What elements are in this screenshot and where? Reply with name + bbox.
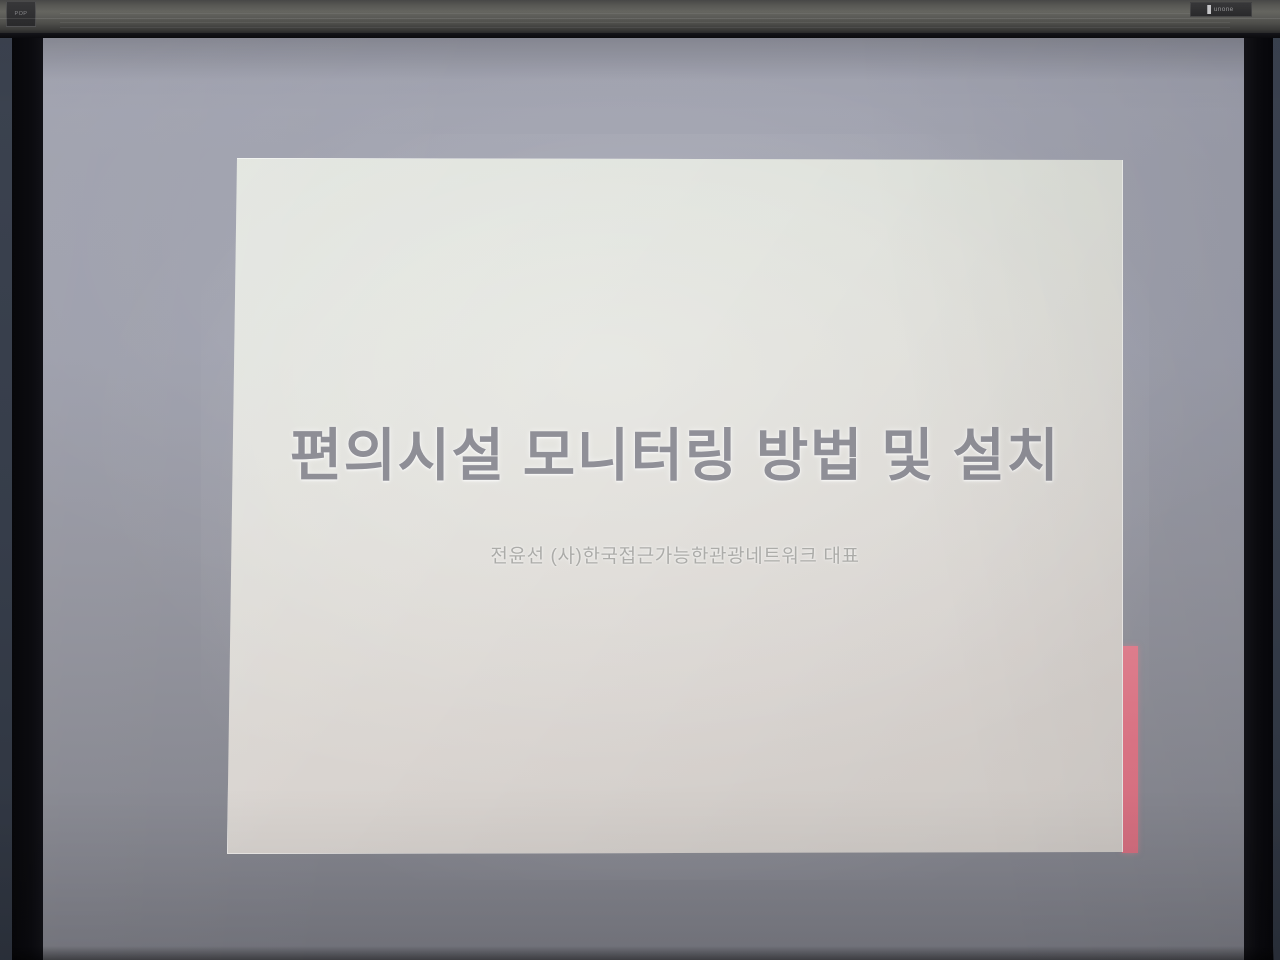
housing-left-plate-label: POP	[15, 11, 28, 17]
floor-shadow	[12, 946, 1274, 960]
screen-roller-housing: POP unone	[0, 0, 1280, 34]
housing-seam-line	[60, 27, 1230, 28]
screen-top-shadow	[43, 38, 1244, 80]
coral-accent-bar	[1122, 646, 1138, 853]
brand-flag-icon	[1207, 5, 1211, 14]
housing-brand-label: unone	[1214, 6, 1234, 12]
housing-seam-line	[60, 13, 1230, 14]
housing-brand-plate: unone	[1190, 2, 1252, 17]
projection-screen-surface: 편의시설 모니터링 방법 및 설치 전윤선 (사)한국접근가능한관광네트워크 대…	[43, 38, 1244, 960]
screen-bezel-right	[1243, 24, 1273, 960]
projector-screen-photo: 편의시설 모니터링 방법 및 설치 전윤선 (사)한국접근가능한관광네트워크 대…	[0, 0, 1280, 960]
housing-seam-line	[60, 22, 1230, 23]
projected-slide-region: 편의시설 모니터링 방법 및 설치 전윤선 (사)한국접근가능한관광네트워크 대…	[227, 158, 1123, 854]
screen-bezel-left	[12, 24, 44, 960]
slide-title: 편의시설 모니터링 방법 및 설치	[227, 410, 1123, 492]
slide-subtitle-presenter: 전윤선 (사)한국접근가능한관광네트워크 대표	[227, 541, 1123, 568]
housing-bottom-edge	[0, 33, 1280, 38]
slide-text-layer: 편의시설 모니터링 방법 및 설치 전윤선 (사)한국접근가능한관광네트워크 대…	[227, 158, 1123, 854]
housing-left-plate: POP	[6, 1, 36, 27]
